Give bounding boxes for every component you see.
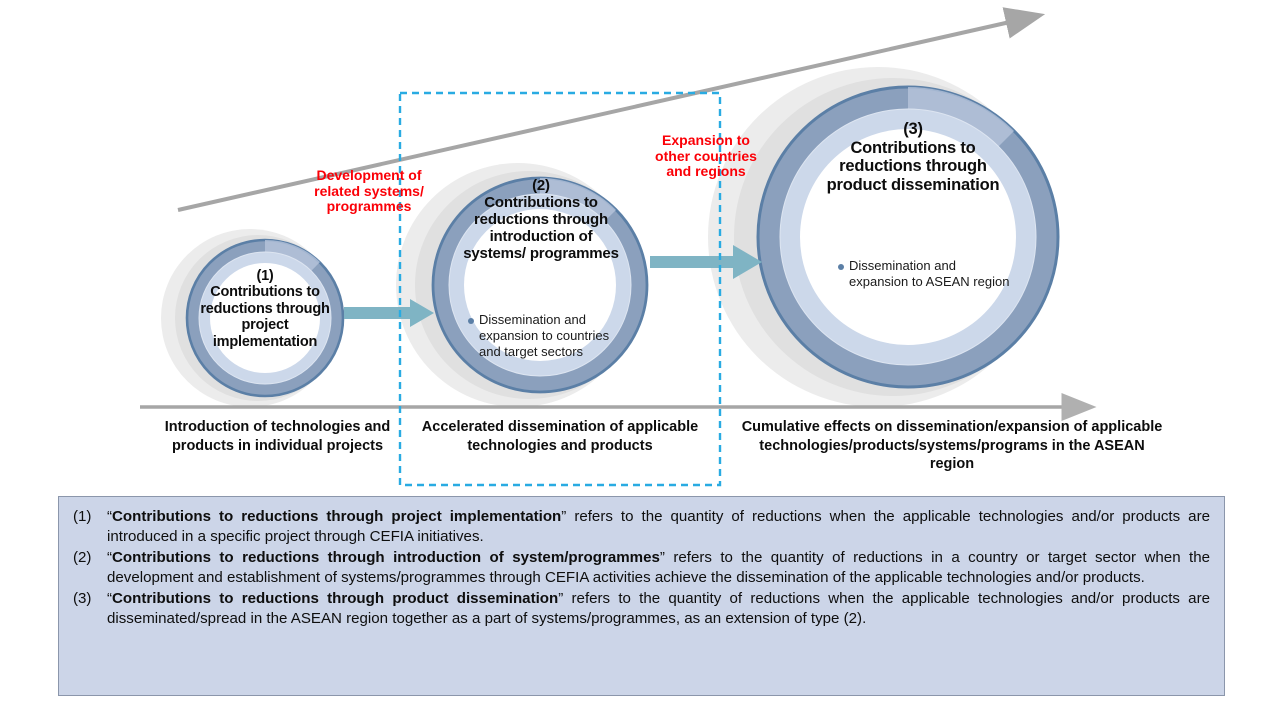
circle-1-title: Contributions to reductions through proj…	[200, 284, 329, 349]
circle-1-number: (1)	[190, 268, 340, 284]
circle-2-bullet-list: Dissemination and expansion to countries…	[468, 312, 624, 360]
bullet-icon	[468, 318, 474, 324]
diagram-stage: (1) Contributions to reductions through …	[0, 0, 1280, 495]
red-label-development: Development of related systems/ programm…	[306, 168, 432, 215]
legend-item-1: (1) “Contributions to reductions through…	[69, 507, 1210, 546]
circle-3-title-block: (3) Contributions to reductions through …	[820, 120, 1006, 195]
legend-bold-3: Contributions to reductions through prod…	[112, 590, 558, 607]
legend-text-2: “Contributions to reductions through int…	[107, 548, 1210, 587]
circle-3-number: (3)	[820, 120, 1006, 139]
circle-3-title: Contributions to reductions through prod…	[827, 139, 1000, 194]
circle-1-text: (1) Contributions to reductions through …	[190, 268, 340, 350]
legend-item-2: (2) “Contributions to reductions through…	[69, 548, 1210, 587]
circle-3-bullet-list: Dissemination and expansion to ASEAN reg…	[838, 258, 1018, 290]
caption-stage-1: Introduction of technologies and product…	[155, 418, 400, 455]
circle-2-title: Contributions to reductions through intr…	[463, 194, 618, 262]
circle-2-number: (2)	[460, 178, 622, 195]
circle-group-3	[708, 67, 1058, 407]
legend-text-3: “Contributions to reductions through pro…	[107, 589, 1210, 628]
circle-3-bullet-1: Dissemination and expansion to ASEAN reg…	[849, 258, 1018, 290]
legend-index-1: (1)	[69, 507, 107, 527]
circle-2-bullet-1: Dissemination and expansion to countries…	[479, 312, 624, 360]
legend-bold-2: Contributions to reductions through intr…	[112, 549, 660, 566]
list-item: Dissemination and expansion to ASEAN reg…	[838, 258, 1018, 290]
legend-index-2: (2)	[69, 548, 107, 568]
diagram-page: (1) Contributions to reductions through …	[0, 0, 1280, 720]
list-item: Dissemination and expansion to countries…	[468, 312, 624, 360]
bullet-icon	[838, 264, 844, 270]
red-label-expansion: Expansion to other countries and regions	[648, 133, 764, 180]
definitions-panel: (1) “Contributions to reductions through…	[58, 496, 1225, 696]
legend-bold-1: Contributions to reductions through proj…	[112, 508, 561, 525]
caption-stage-2: Accelerated dissemination of applicable …	[412, 418, 708, 455]
circle-2-title-block: (2) Contributions to reductions through …	[460, 178, 622, 263]
caption-stage-3: Cumulative effects on dissemination/expa…	[740, 418, 1164, 474]
legend-text-1: “Contributions to reductions through pro…	[107, 507, 1210, 546]
legend-item-3: (3) “Contributions to reductions through…	[69, 589, 1210, 628]
legend-index-3: (3)	[69, 589, 107, 609]
